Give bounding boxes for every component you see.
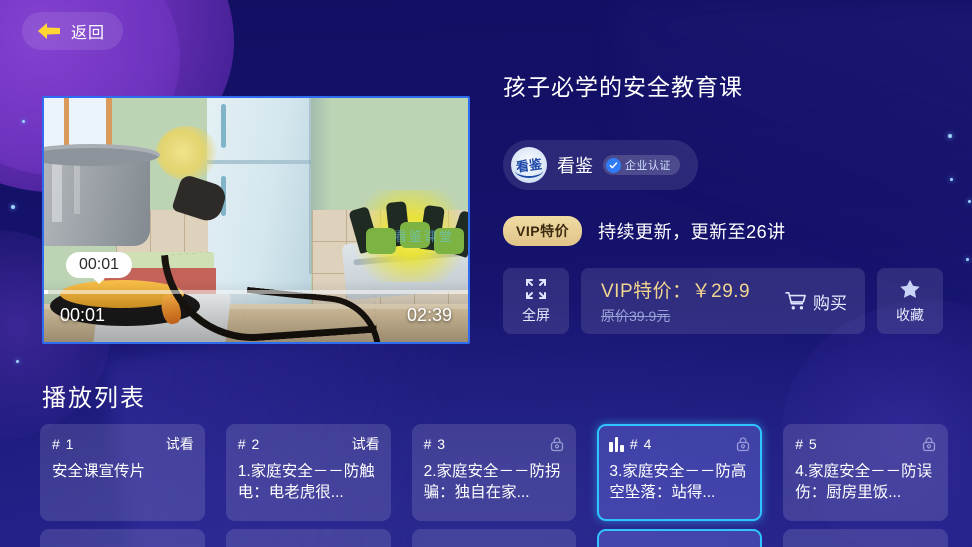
avatar-label: 看鉴 (515, 157, 543, 173)
playlist-item[interactable]: # 43.家庭安全－－防高空坠落：站得... (597, 424, 762, 521)
decorative-dot (22, 120, 25, 123)
action-button-row: 全屏 VIP特价：￥29.9 原价39.9元 购买 (503, 268, 943, 334)
lock-icon (549, 436, 565, 452)
playlist-item-header: # 1试看 (52, 434, 194, 454)
expand-icon (525, 278, 547, 300)
playlist-item-index-group: # 4 (609, 436, 652, 452)
playlist-item-title: 3.家庭安全－－防高空坠落：站得... (609, 462, 751, 504)
playlist-item-index-group: # 2 (238, 436, 260, 452)
playlist-row-next (40, 529, 948, 547)
playlist-item-index-group: # 1 (52, 436, 74, 452)
playlist-item-title: 1.家庭安全－－防触电：电老虎很... (238, 462, 380, 504)
update-status-row: VIP特价 持续更新，更新至26讲 (503, 216, 943, 246)
update-status-text: 持续更新，更新至26讲 (598, 218, 786, 244)
playlist-item-header: # 4 (609, 434, 751, 454)
trial-tag: 试看 (352, 434, 380, 454)
playlist-item-index: # 3 (424, 436, 446, 452)
vip-price-value: VIP特价：￥29.9 (601, 276, 750, 303)
playlist-item-index-group: # 3 (424, 436, 446, 452)
playlist-item-next-row[interactable] (783, 529, 948, 547)
playlist-item[interactable]: # 54.家庭安全－－防误伤：厨房里饭... (783, 424, 948, 521)
shopping-cart-icon (785, 291, 807, 311)
playlist-item-title: 安全课宣传片 (52, 462, 194, 483)
publisher-name: 看鉴 (557, 152, 593, 178)
playlist-item-next-row[interactable] (40, 529, 205, 547)
course-info-panel: 孩子必学的安全教育课 看鉴 看鉴 企业认证 VIP特价 持续更新，更新至26讲 (503, 68, 943, 334)
arrow-left-icon (36, 21, 62, 41)
current-time-label: 00:01 (60, 305, 105, 326)
lock-icon (735, 436, 751, 452)
certification-label: 企业认证 (625, 157, 671, 173)
verified-check-icon (606, 158, 621, 173)
playlist-item-next-row[interactable] (226, 529, 391, 547)
video-watermark: 看鉴课堂 (394, 226, 454, 245)
status-badge: 企业认证 (603, 155, 680, 175)
original-price-value: 原价39.9元 (601, 306, 750, 326)
playlist-item-index: # 4 (630, 436, 652, 452)
playlist-item[interactable]: # 32.家庭安全－－防拐骗：独自在家... (412, 424, 577, 521)
vip-price-tag: VIP特价 (503, 216, 582, 246)
video-progress-bar[interactable] (44, 290, 468, 294)
fullscreen-label: 全屏 (522, 305, 550, 325)
lock-icon (921, 436, 937, 452)
decorative-dot (948, 134, 952, 138)
playlist-item-header: # 3 (424, 434, 566, 454)
favorite-label: 收藏 (896, 305, 924, 325)
decorative-dot (968, 200, 971, 203)
seek-tooltip: 00:01 (66, 252, 132, 278)
duration-label: 02:39 (407, 305, 452, 326)
decorative-dot (11, 205, 15, 209)
buy-action[interactable]: 购买 (785, 289, 847, 314)
publisher-chip[interactable]: 看鉴 看鉴 企业认证 (503, 140, 698, 190)
video-progress-fill (44, 290, 48, 294)
playlist-item[interactable]: # 1试看安全课宣传片 (40, 424, 205, 521)
buy-label: 购买 (813, 289, 847, 314)
playlist-item-index: # 5 (795, 436, 817, 452)
favorite-button[interactable]: 收藏 (877, 268, 943, 334)
now-playing-icon (609, 437, 624, 452)
decorative-dot (950, 178, 953, 181)
price-block: VIP特价：￥29.9 原价39.9元 (601, 276, 750, 326)
playlist-item-index: # 1 (52, 436, 74, 452)
playlist-item-title: 4.家庭安全－－防误伤：厨房里饭... (795, 462, 937, 504)
playlist-item-header: # 2试看 (238, 434, 380, 454)
playlist-item-index: # 2 (238, 436, 260, 452)
playlist-item-next-row[interactable] (597, 529, 762, 547)
page-title: 孩子必学的安全教育课 (503, 68, 943, 102)
decorative-dot (966, 258, 969, 261)
playlist-item[interactable]: # 2试看1.家庭安全－－防触电：电老虎很... (226, 424, 391, 521)
playlist-item-header: # 5 (795, 434, 937, 454)
playlist-row: # 1试看安全课宣传片# 2试看1.家庭安全－－防触电：电老虎很...# 32.… (40, 424, 948, 521)
decorative-dot (16, 360, 19, 363)
back-button[interactable]: 返回 (22, 12, 123, 50)
buy-button[interactable]: VIP特价：￥29.9 原价39.9元 购买 (581, 268, 865, 334)
playlist-item-index-group: # 5 (795, 436, 817, 452)
playlist-item-title: 2.家庭安全－－防拐骗：独自在家... (424, 462, 566, 504)
video-player[interactable]: 看鉴课堂 00:01 00:01 02:39 (42, 96, 470, 344)
trial-tag: 试看 (166, 434, 194, 454)
star-icon (899, 278, 921, 300)
back-button-label: 返回 (71, 19, 105, 43)
avatar: 看鉴 (511, 147, 547, 183)
playlist-item-next-row[interactable] (412, 529, 577, 547)
playlist-heading: 播放列表 (42, 378, 146, 413)
fullscreen-button[interactable]: 全屏 (503, 268, 569, 334)
